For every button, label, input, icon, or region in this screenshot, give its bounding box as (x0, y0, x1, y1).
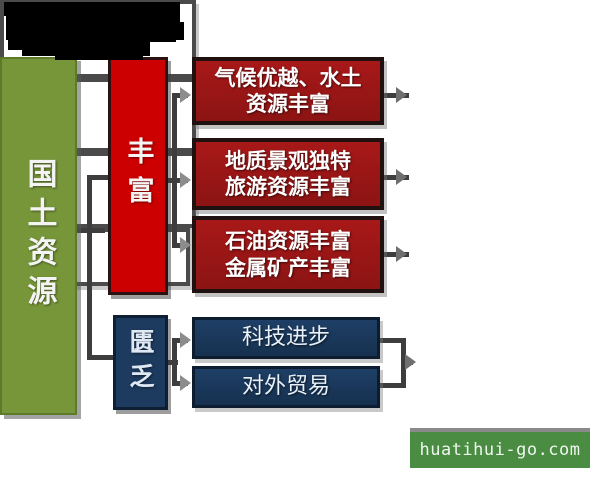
branch-node-scarce-label: 匮乏 (128, 329, 153, 397)
arrow-outcome4 (405, 354, 416, 370)
branch-node-abundant-label: 丰富 (125, 137, 152, 215)
detail-node-climate-water-line2: 资源丰富 (246, 91, 330, 117)
connector-to-kuifa (87, 355, 115, 360)
root-node-national-resources[interactable]: 国土资源 (0, 57, 77, 415)
connector-red-spine (172, 93, 177, 248)
root-node-label: 国土资源 (24, 158, 54, 314)
detail-node-oil-metal-line2: 金属矿产丰富 (225, 255, 351, 281)
branch-node-scarce[interactable]: 匮乏 (113, 315, 168, 410)
detail-node-foreign-trade[interactable]: 对外贸易 (192, 366, 380, 408)
watermark-badge: huatihui-go.com (410, 428, 590, 468)
detail-node-geology-tourism-line1: 地质景观独特 (225, 148, 351, 174)
arrow-blue-child2 (180, 375, 191, 391)
arrow-blue-child1 (180, 332, 191, 348)
detail-node-foreign-trade-label: 对外贸易 (242, 374, 330, 400)
branch-node-abundant[interactable]: 丰富 (108, 57, 168, 295)
detail-node-climate-water-line1: 气候优越、水土 (215, 65, 362, 91)
arrow-red-child3 (180, 237, 191, 253)
connector-root-spine (87, 175, 92, 360)
arrow-outcome1 (396, 87, 407, 103)
arrow-red-child2 (180, 172, 191, 188)
arrow-outcome3 (396, 246, 407, 262)
detail-node-oil-metal-line1: 石油资源丰富 (225, 228, 351, 254)
detail-node-geology-tourism-line2: 旅游资源丰富 (225, 174, 351, 200)
diagram-canvas: 国土资源 丰富 匮乏 气候优越、水土 资源丰富 地质景观独特 旅游资源丰富 石油… (0, 0, 600, 480)
detail-node-oil-metal[interactable]: 石油资源丰富 金属矿产丰富 (192, 216, 384, 293)
detail-node-climate-water[interactable]: 气候优越、水土 资源丰富 (192, 57, 384, 125)
arrow-outcome2 (396, 169, 407, 185)
detail-node-tech-progress-label: 科技进步 (242, 325, 330, 351)
arrow-red-child1 (180, 87, 191, 103)
watermark-label: huatihui-go.com (419, 440, 580, 460)
detail-node-geology-tourism[interactable]: 地质景观独特 旅游资源丰富 (192, 138, 384, 210)
detail-node-tech-progress[interactable]: 科技进步 (192, 317, 380, 359)
